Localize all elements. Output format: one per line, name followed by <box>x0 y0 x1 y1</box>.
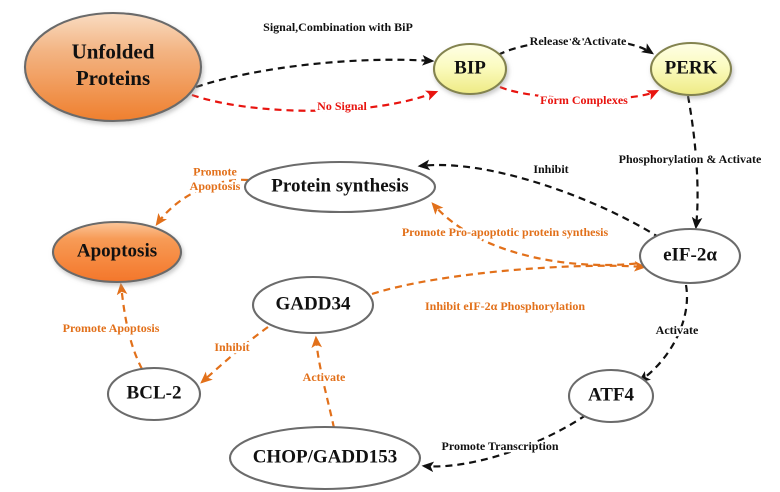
edge-label-perk-to-eif2a: Phosphorylation & Activate <box>619 152 762 166</box>
node-label-perk: PERK <box>665 57 718 78</box>
edge-label-protein-synthesis-to-apoptosis: Apoptosis <box>190 179 241 193</box>
edge-label-gadd34-to-bcl2: Inhibit <box>214 340 249 354</box>
node-chop-gadd153[interactable]: CHOP/GADD153 <box>230 427 420 489</box>
node-perk[interactable]: PERK <box>651 43 731 95</box>
edge-path-gadd34-to-bcl2 <box>202 327 268 382</box>
node-gadd34[interactable]: GADD34 <box>253 277 373 333</box>
node-label-gadd34: GADD34 <box>276 293 351 314</box>
node-bip[interactable]: BIP <box>434 44 506 94</box>
edge-label-eif2a-to-atf4: Activate <box>656 323 699 337</box>
node-atf4[interactable]: ATF4 <box>569 370 653 422</box>
edge-label-bip-to-perk: Release & Activate <box>530 34 627 48</box>
edge-path-unfolded-to-bip <box>196 60 432 87</box>
edge-label-chop-to-gadd34: Activate <box>303 370 346 384</box>
edge-label-bcl2-to-apoptosis: Promote Apoptosis <box>63 321 160 335</box>
node-label-eif-2-alpha: eIF-2α <box>663 244 717 265</box>
edge-path-unfolded-to-bip-nosignal <box>192 92 436 111</box>
node-label-atf4: ATF4 <box>588 384 635 405</box>
node-eif-2-alpha[interactable]: eIF-2α <box>640 229 740 283</box>
node-apoptosis[interactable]: Apoptosis <box>53 222 181 282</box>
node-label-chop-gadd153: CHOP/GADD153 <box>253 446 398 467</box>
node-label-protein-synthesis: Protein synthesis <box>271 175 408 196</box>
edge-label-eif2a-to-protein-synthesis: Inhibit <box>533 162 568 176</box>
node-protein-synthesis[interactable]: Protein synthesis <box>245 162 435 212</box>
edge-unfolded-to-bip <box>196 60 432 87</box>
edge-label-protein-synthesis-to-apoptosis: Promote <box>193 165 237 179</box>
edge-label-unfolded-to-bip-nosignal: No Signal <box>317 99 367 113</box>
pathway-diagram: UnfoldedProteinsBIPPERKProtein synthesis… <box>0 0 780 492</box>
edge-label-unfolded-to-bip: Signal,Combination with BiP <box>263 20 413 34</box>
node-label-bcl-2: BCL-2 <box>127 382 182 403</box>
edge-gadd34-to-eif2a <box>372 266 644 294</box>
edge-label-eif2a-to-protein-synthesis-orange: Promote Pro-apoptotic protein synthesis <box>402 225 609 239</box>
edge-path-gadd34-to-eif2a <box>372 266 644 294</box>
edge-gadd34-to-bcl2 <box>202 327 268 382</box>
diagram-canvas: UnfoldedProteinsBIPPERKProtein synthesis… <box>0 0 780 492</box>
edge-label-bip-to-perk-complex: Form Complexes <box>540 93 628 107</box>
nodes-layer: UnfoldedProteinsBIPPERKProtein synthesis… <box>25 13 740 489</box>
edge-label-gadd34-to-eif2a: Inhibit eIF-2α Phosphorylation <box>425 299 585 313</box>
node-unfolded-proteins[interactable]: UnfoldedProteins <box>25 13 201 121</box>
node-label-bip: BIP <box>454 57 486 78</box>
edge-label-atf4-to-chop: Promote Transcription <box>442 439 559 453</box>
node-bcl-2[interactable]: BCL-2 <box>108 368 200 420</box>
node-label-apoptosis: Apoptosis <box>77 240 157 261</box>
node-label-unfolded-proteins: Proteins <box>76 66 150 90</box>
edge-unfolded-to-bip-nosignal <box>192 92 436 111</box>
node-label-unfolded-proteins: Unfolded <box>72 40 155 64</box>
